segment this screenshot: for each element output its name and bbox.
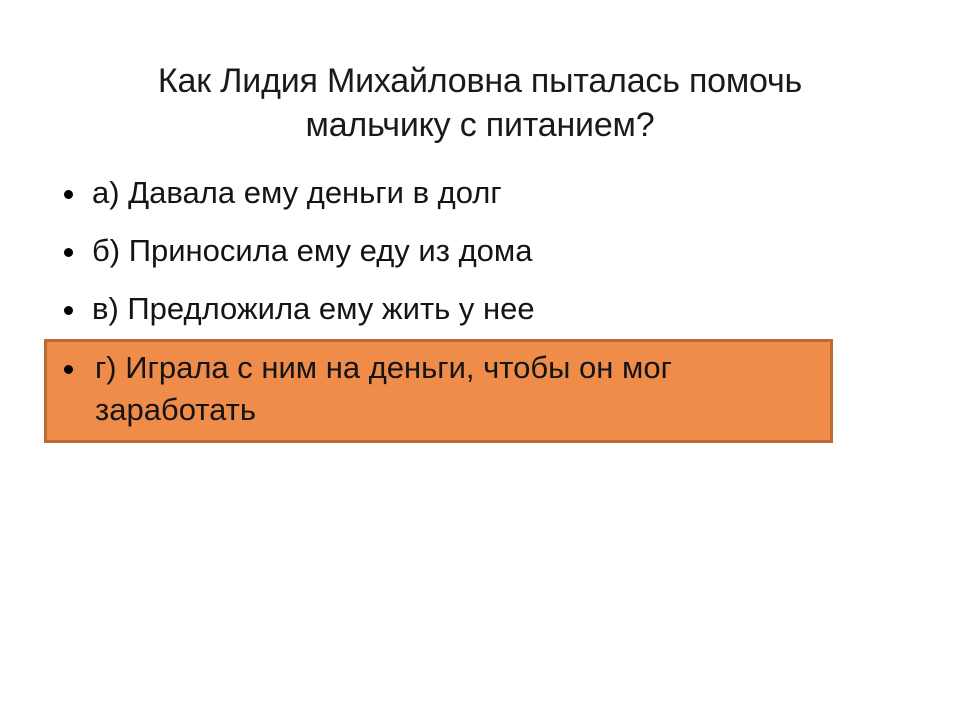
- bullet-icon: [64, 306, 73, 315]
- answer-option-b-label: б) Приносила ему еду из дома: [92, 230, 924, 272]
- answer-option-g-highlighted[interactable]: г) Играла с ним на деньги, чтобы он мог …: [44, 339, 833, 443]
- bullet-icon: [64, 190, 73, 199]
- answer-option-v[interactable]: в) Предложила ему жить у нее: [44, 288, 924, 330]
- answer-option-b[interactable]: б) Приносила ему еду из дома: [44, 230, 924, 272]
- slide-canvas: Как Лидия Михайловна пыталась помочь мал…: [0, 0, 960, 720]
- answer-option-a[interactable]: а) Давала ему деньги в долг: [44, 172, 924, 214]
- bullet-icon: [64, 365, 73, 374]
- page-title: Как Лидия Михайловна пыталась помочь мал…: [48, 59, 912, 147]
- answer-option-v-label: в) Предложила ему жить у нее: [92, 288, 924, 330]
- page-title-line-2: мальчику с питанием?: [48, 103, 912, 147]
- answer-option-g-label: г) Играла с ним на деньги, чтобы он мог …: [95, 347, 795, 431]
- page-title-line-1: Как Лидия Михайловна пыталась помочь: [48, 59, 912, 103]
- answer-options-list: а) Давала ему деньги в долг б) Приносила…: [44, 172, 924, 443]
- bullet-icon: [64, 248, 73, 257]
- answer-option-a-label: а) Давала ему деньги в долг: [92, 172, 924, 214]
